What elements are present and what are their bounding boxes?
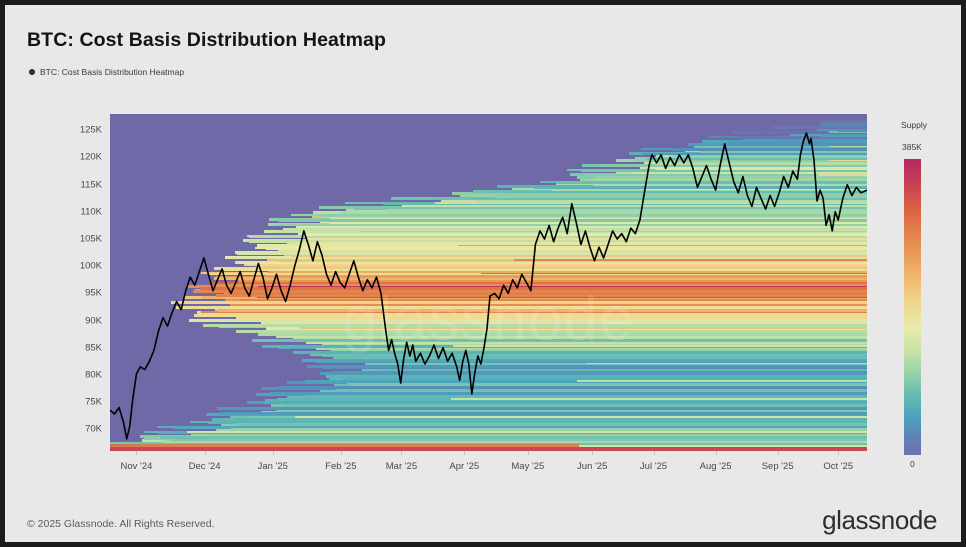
- x-axis-tick-label: Apr '25: [449, 461, 479, 472]
- x-axis-tick-label: Feb '25: [325, 461, 356, 472]
- y-axis-tick-label: 85K: [85, 342, 102, 353]
- x-axis-tick: [205, 451, 206, 455]
- y-axis-tick-label: 115K: [81, 179, 102, 190]
- x-axis-tick-label: Dec '24: [189, 461, 221, 472]
- legend-label: BTC: Cost Basis Distribution Heatmap: [40, 67, 184, 77]
- y-axis: 125K120K115K110K105K100K95K90K85K80K75K7…: [5, 114, 102, 451]
- y-axis-tick-label: 110K: [81, 206, 102, 217]
- colorbar-min-label: 0: [910, 459, 915, 469]
- y-axis-tick-label: 95K: [85, 288, 102, 299]
- chart-legend[interactable]: BTC: Cost Basis Distribution Heatmap: [29, 67, 184, 77]
- chart-card: BTC: Cost Basis Distribution Heatmap BTC…: [5, 5, 961, 542]
- y-axis-tick-label: 75K: [85, 397, 102, 408]
- page-title: BTC: Cost Basis Distribution Heatmap: [27, 29, 386, 52]
- x-axis-tick: [528, 451, 529, 455]
- x-axis-tick: [592, 451, 593, 455]
- colorbar-title: Supply: [901, 120, 927, 130]
- x-axis-tick: [136, 451, 137, 455]
- y-axis-tick-label: 80K: [85, 369, 102, 380]
- y-axis-tick-label: 120K: [80, 152, 102, 163]
- y-axis-tick-label: 90K: [85, 315, 102, 326]
- y-axis-tick-label: 100K: [80, 261, 102, 272]
- x-axis-tick: [778, 451, 779, 455]
- x-axis-tick: [273, 451, 274, 455]
- price-line-overlay: [110, 114, 867, 451]
- x-axis-tick: [716, 451, 717, 455]
- x-axis-tick-label: Oct '25: [823, 461, 853, 472]
- x-axis-tick: [654, 451, 655, 455]
- x-axis-tick-label: Sep '25: [762, 461, 794, 472]
- x-axis-tick: [401, 451, 402, 455]
- x-axis-tick-label: May '25: [511, 461, 544, 472]
- colorbar-max-label: 385K: [902, 142, 922, 152]
- x-axis-tick-label: Jun '25: [577, 461, 607, 472]
- x-axis-tick-label: Jul '25: [640, 461, 667, 472]
- colorbar-gradient: [904, 159, 921, 455]
- legend-marker-icon: [29, 69, 35, 75]
- x-axis: Nov '24Dec '24Jan '25Feb '25Mar '25Apr '…: [110, 451, 867, 477]
- glassnode-wordmark: glassnode: [822, 505, 937, 536]
- x-axis-tick-label: Aug '25: [700, 461, 732, 472]
- x-axis-tick: [464, 451, 465, 455]
- heatmap-plot-area[interactable]: glassnode: [110, 114, 867, 451]
- x-axis-tick-label: Mar '25: [386, 461, 417, 472]
- x-axis-tick-label: Nov '24: [121, 461, 153, 472]
- x-axis-tick: [838, 451, 839, 455]
- y-axis-tick-label: 105K: [80, 234, 102, 245]
- x-axis-tick-label: Jan '25: [258, 461, 288, 472]
- x-axis-tick: [341, 451, 342, 455]
- y-axis-tick-label: 125K: [80, 125, 102, 136]
- copyright-text: © 2025 Glassnode. All Rights Reserved.: [27, 518, 215, 530]
- y-axis-tick-label: 70K: [85, 424, 102, 435]
